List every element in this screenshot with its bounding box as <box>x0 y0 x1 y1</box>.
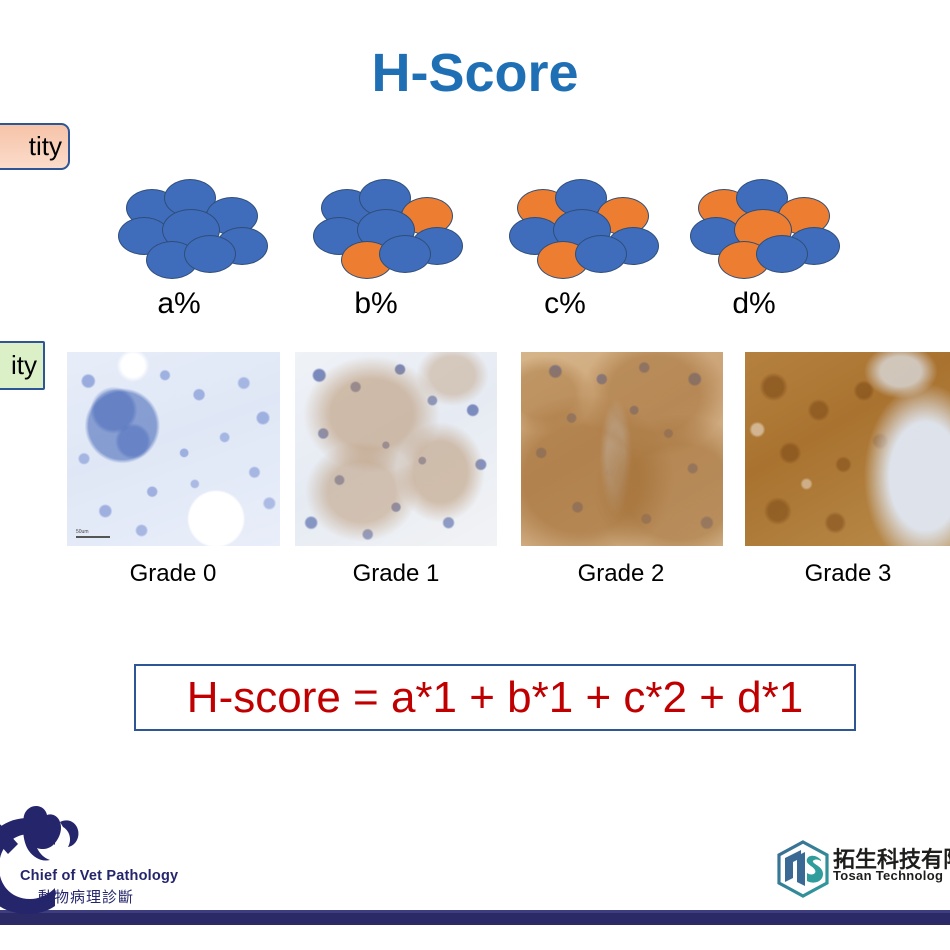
formula-text: H-score = a*1 + b*1 + c*2 + d*1 <box>187 673 803 723</box>
cell-blue <box>756 235 808 273</box>
cell-blue <box>379 235 431 273</box>
logo-left-english: Chief of Vet Pathology <box>20 868 178 884</box>
micrograph-caption-grade-0: Grade 0 <box>83 560 263 588</box>
cluster-label-d: d% <box>694 287 814 321</box>
cell-blue <box>184 235 236 273</box>
slide-canvas: H-Score tity ity a% b% c% d% 50um Grade … <box>0 0 950 950</box>
micrograph-grade-3 <box>745 352 950 546</box>
cell-cluster-a <box>112 175 292 275</box>
logo-left-chinese: 動物病理診斷 <box>38 886 134 907</box>
cluster-label-a: a% <box>119 287 239 321</box>
micrograph-grade-2 <box>521 352 723 546</box>
scale-bar-label: 50um <box>76 529 89 535</box>
page-title: H-Score <box>0 42 950 104</box>
cell-cluster-b <box>307 175 487 275</box>
cell-cluster-d <box>684 175 864 275</box>
row-label-quantity: tity <box>0 123 70 170</box>
cell-blue <box>575 235 627 273</box>
micrograph-grade-1 <box>295 352 497 546</box>
logo-chief-of-vet-pathology: Chief of Vet Pathology 動物病理診斷 <box>0 800 194 918</box>
micrograph-grade-0: 50um <box>67 352 280 546</box>
cluster-label-b: b% <box>316 287 436 321</box>
cluster-label-c: c% <box>505 287 625 321</box>
row-label-intensity-text: ity <box>11 350 37 381</box>
logo-right-english: Tosan Technolog <box>833 868 943 883</box>
micrograph-caption-grade-3: Grade 3 <box>758 560 938 588</box>
row-label-intensity: ity <box>0 341 45 390</box>
micrograph-grade-3-image <box>745 352 950 546</box>
micrograph-grade-1-image <box>295 352 497 546</box>
scale-bar <box>76 536 110 538</box>
logo-tosan-technology: 拓生科技有限 Tosan Technolog <box>775 840 950 902</box>
micrograph-grade-0-image <box>67 352 280 546</box>
formula-box: H-score = a*1 + b*1 + c*2 + d*1 <box>134 664 856 731</box>
micrograph-grade-2-image <box>521 352 723 546</box>
cell-cluster-c <box>503 175 683 275</box>
row-label-quantity-text: tity <box>29 131 62 162</box>
micrograph-caption-grade-2: Grade 2 <box>531 560 711 588</box>
micrograph-caption-grade-1: Grade 1 <box>306 560 486 588</box>
tosan-hexagon-icon <box>775 840 831 898</box>
